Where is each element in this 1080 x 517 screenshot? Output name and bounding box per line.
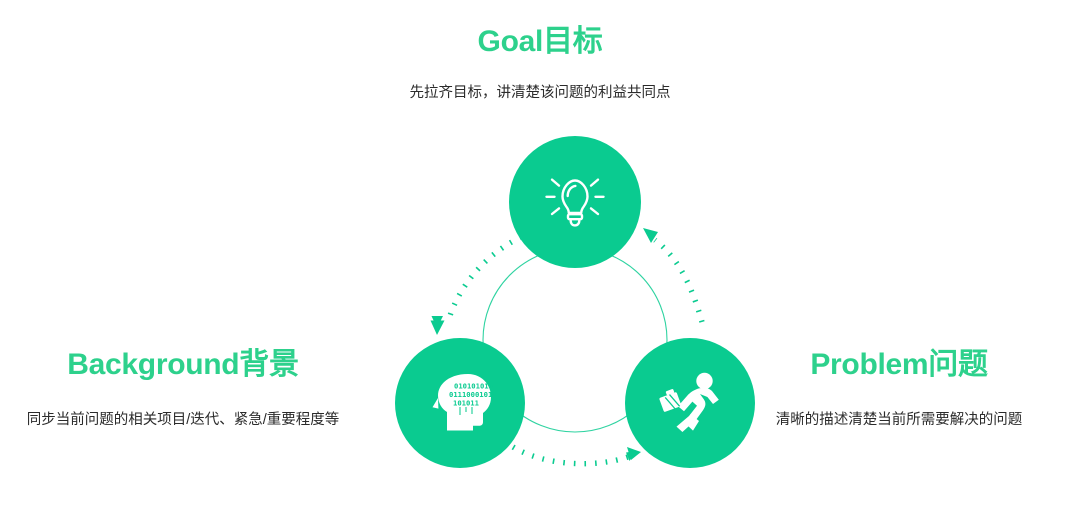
label-problem: Problem问题 清晰的描述清楚当前所需要解决的问题 <box>718 347 1080 431</box>
label-goal: Goal目标 先拉齐目标，讲清楚该问题的利益共同点 <box>0 24 1080 104</box>
connector-goal-to-background <box>431 237 522 335</box>
node-problem-title: Problem问题 <box>718 347 1080 383</box>
node-problem-description: 清晰的描述清楚当前所需要解决的问题 <box>718 409 1080 431</box>
node-goal[interactable] <box>509 136 641 268</box>
node-goal-title: Goal目标 <box>0 24 1080 60</box>
node-background[interactable] <box>395 338 525 468</box>
node-goal-description: 先拉齐目标，讲清楚该问题的利益共同点 <box>0 82 1080 104</box>
label-background: Background背景 同步当前问题的相关项目/迭代、紧急/重要程度等 <box>0 347 366 431</box>
node-background-description: 同步当前问题的相关项目/迭代、紧急/重要程度等 <box>0 409 366 431</box>
diagram-canvas: 010101010 0111000101 101011 <box>0 0 1080 517</box>
connector-problem-to-goal <box>643 228 702 322</box>
connector-background-to-problem <box>513 447 641 464</box>
node-background-title: Background背景 <box>0 347 366 383</box>
